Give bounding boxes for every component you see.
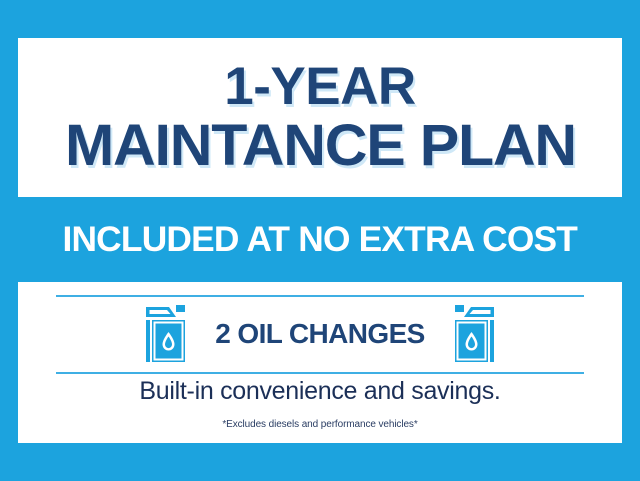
oil-jug-icon: [143, 304, 189, 364]
oil-jug-icon: [451, 304, 497, 364]
headline-line-2: MAINTANCE PLAN: [65, 117, 576, 175]
divider-bottom: [56, 372, 584, 374]
headline-line-1: 1-YEAR: [224, 60, 415, 113]
feature-row: 2 OIL CHANGES: [18, 298, 622, 370]
subhead-text: INCLUDED AT NO EXTRA COST: [63, 222, 578, 257]
benefits-card: 2 OIL CHANGES Built-in convenience and s…: [18, 282, 622, 443]
headline-card: 1-YEAR MAINTANCE PLAN: [18, 38, 622, 197]
disclaimer-text: *Excludes diesels and performance vehicl…: [18, 420, 622, 430]
divider-top: [56, 295, 584, 297]
promo-poster: 1-YEAR MAINTANCE PLAN INCLUDED AT NO EXT…: [0, 0, 640, 481]
subhead-band: INCLUDED AT NO EXTRA COST: [0, 197, 640, 282]
tagline-text: Built-in convenience and savings.: [18, 379, 622, 404]
feature-label: 2 OIL CHANGES: [215, 320, 425, 348]
